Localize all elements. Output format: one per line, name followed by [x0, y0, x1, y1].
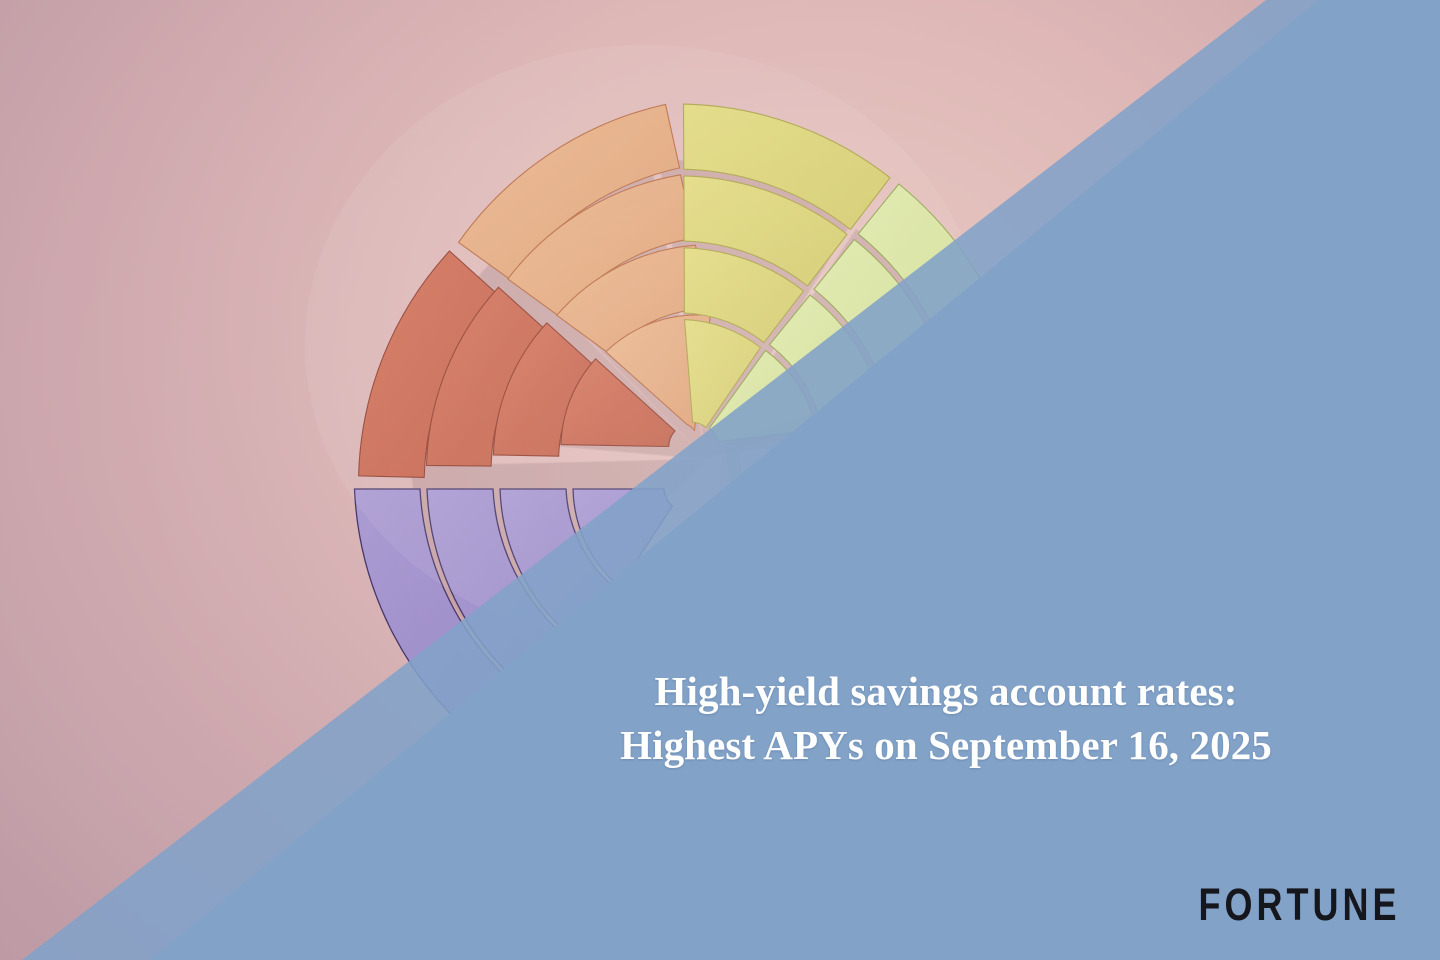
page-title: High-yield savings account rates: Highes…	[496, 665, 1396, 772]
hero-image: OFF % √ M+ MR M- ÷ × 7 8 9 − 4 5 6 + 1 2…	[0, 0, 1440, 960]
headline-line-2: Highest APYs on September 16, 2025	[496, 719, 1396, 772]
fortune-logo: FORTUNE	[1198, 882, 1400, 927]
headline-line-1: High-yield savings account rates:	[496, 665, 1396, 718]
